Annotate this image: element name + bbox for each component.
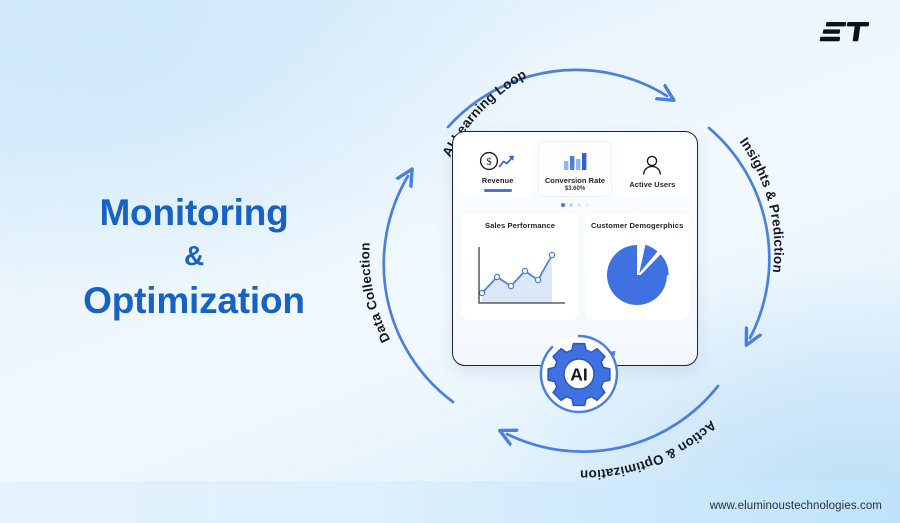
svg-text:$: $ bbox=[486, 157, 491, 168]
pie-chart bbox=[591, 234, 683, 315]
kpi-revenue[interactable]: $ Revenue bbox=[462, 141, 533, 197]
kpi-row: $ Revenue Conversion R bbox=[462, 141, 688, 197]
kpi-label: Active Users bbox=[629, 180, 675, 189]
line-chart bbox=[468, 234, 572, 315]
gear-icon: AI bbox=[548, 344, 610, 406]
panel-title: Customer Demogerphics bbox=[591, 221, 683, 230]
pagination-dot-1[interactable] bbox=[561, 203, 565, 207]
panel-title: Sales Performance bbox=[485, 221, 555, 230]
bar-chart-icon bbox=[561, 149, 589, 173]
user-icon bbox=[640, 153, 664, 177]
ai-gear-badge[interactable]: AI bbox=[535, 330, 623, 418]
loop-label-data-collection: Data Collection bbox=[357, 242, 393, 345]
kpi-conversion-rate[interactable]: Conversion Rate $3.60% bbox=[538, 141, 611, 197]
pagination-dot-4[interactable] bbox=[585, 203, 589, 207]
kpi-value: $3.60% bbox=[565, 186, 585, 192]
panel-row: Sales Performance bbox=[462, 214, 688, 320]
pagination-dot-3[interactable] bbox=[577, 203, 581, 207]
et-logo bbox=[818, 17, 874, 47]
kpi-active-users[interactable]: Active Users bbox=[617, 141, 688, 197]
kpi-label: Revenue bbox=[482, 176, 514, 185]
page-title: Monitoring & Optimization bbox=[44, 186, 344, 329]
carousel-pagination[interactable] bbox=[462, 203, 688, 207]
website-url: www.eluminoustechnologies.com bbox=[710, 500, 882, 512]
title-ampersand: & bbox=[44, 241, 344, 272]
ai-badge-text: AI bbox=[570, 364, 588, 384]
pagination-dot-2[interactable] bbox=[569, 203, 573, 207]
panel-customer-demographics: Customer Demogerphics bbox=[585, 214, 689, 320]
kpi-active-underline bbox=[484, 189, 512, 192]
arc-left bbox=[384, 176, 453, 402]
poster-canvas: www.eluminoustechnologies.com Monitoring… bbox=[0, 0, 900, 523]
title-line-1: Monitoring bbox=[44, 186, 344, 240]
dollar-trend-icon: $ bbox=[478, 149, 518, 173]
panel-sales-performance: Sales Performance bbox=[462, 214, 578, 320]
title-line-2: Optimization bbox=[44, 274, 344, 328]
kpi-label: Conversion Rate bbox=[545, 176, 605, 185]
